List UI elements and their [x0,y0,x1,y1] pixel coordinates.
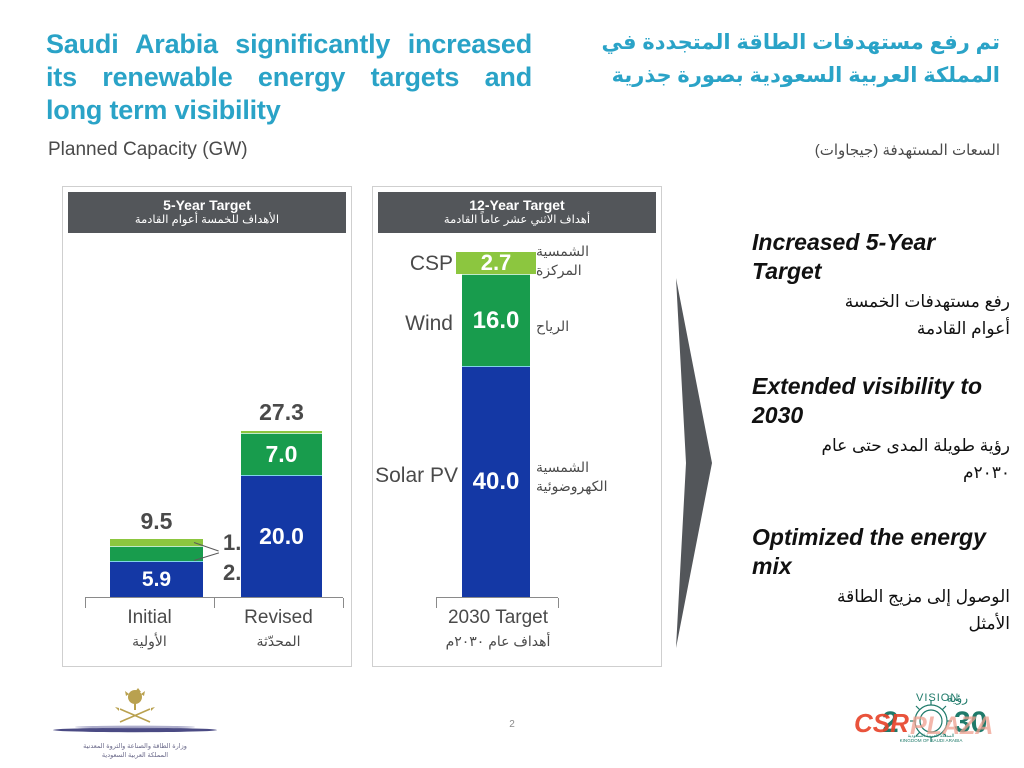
series-label-solar-ar: الشمسية الكهروضوئية [536,458,608,496]
panel-header-five-year: 5-Year Target الأهداف للخمسة أعوام القاد… [68,192,346,233]
panel-header-title-en-12: 12-Year Target [469,197,564,213]
callout-2-en: Optimized the energy mix [752,523,1010,581]
bar-2030-target: 40.0 16.0 [462,259,530,597]
segment-2030-csp: 2.7 [456,252,536,274]
total-label-revised: 27.3 [241,399,322,426]
category-label-revised: Revised المحدّثة [214,606,343,652]
series-label-wind-ar: الرياح [536,317,569,336]
subtitle-arabic: السعات المستهدفة (جيجاوات) [815,141,1000,159]
segment-value-revised-wind: 7.0 [266,441,298,468]
segment-value-2030-wind: 16.0 [473,307,520,335]
segment-value-2030-csp: 2.7 [481,250,512,276]
series-label-wind-en: Wind [373,312,453,336]
callout-0-en: Increased 5-Year Target [752,228,1010,286]
bar-initial: 5.9 [110,539,203,597]
chart-panel-twelve-year: 12-Year Target أهداف الاثني عشر عاماً ال… [372,186,662,667]
segment-value-initial-solar-pv: 5.9 [142,568,171,592]
segment-initial-wind [110,546,203,561]
title-line-3: long term visibility [46,94,532,127]
callout-optimized-mix: Optimized the energy mix الوصول إلى مزيج… [752,523,1010,637]
segment-2030-wind: 16.0 [462,274,530,366]
page-title-arabic: تم رفع مستهدفات الطاقة المتجددة في الممل… [530,26,1000,92]
plot-area-twelve-year: 58.7 40.0 16.0 2.7 CSP Wind [373,235,661,666]
svg-text:رؤية: رؤية [947,691,969,705]
segment-value-2030-solar-pv: 40.0 [473,468,520,496]
panel-header-title-en: 5-Year Target [163,197,251,213]
total-label-initial: 9.5 [110,508,203,535]
panel-header-title-ar: الأهداف للخمسة أعوام القادمة [135,213,279,228]
callout-0-ar: رفع مستهدفات الخمسة أعوام القادمة [752,288,1010,342]
callout-1-ar: رؤية طويلة المدى حتى عام ٢٠٣٠م [752,432,1010,486]
page-title-english: Saudi Arabia significantly increased its… [46,28,532,127]
panel-header-twelve-year: 12-Year Target أهداف الاثني عشر عاماً ال… [378,192,656,233]
title-line-1: Saudi Arabia significantly increased [46,28,532,61]
category-label-2030: 2030 Target أهداف عام ٢٠٣٠م [398,606,598,652]
title-line-2: its renewable energy targets and [46,61,532,94]
plot-area-five-year: 5.9 9.5 1.2 2.4 20.0 [63,235,351,666]
svg-text:30: 30 [954,706,987,739]
slide: Saudi Arabia significantly increased its… [0,0,1024,768]
panel-header-title-ar-12: أهداف الاثني عشر عاماً القادمة [444,213,590,228]
callout-1-en: Extended visibility to 2030 [752,372,1010,430]
subtitle-english: Planned Capacity (GW) [48,139,248,161]
callout-extended-visibility: Extended visibility to 2030 رؤية طويلة ا… [752,372,1010,486]
segment-initial-csp [110,539,203,546]
category-label-initial: Initial الأولية [85,606,214,652]
series-label-csp-en: CSP [373,252,453,276]
ministry-logo-caption: وزارة الطاقة والصناعة والثروة المعدنية ا… [50,742,220,760]
segment-revised-csp [241,431,322,433]
chevron-right-arrow-icon [672,278,718,648]
svg-text:KINGDOM OF SAUDI ARABIA: KINGDOM OF SAUDI ARABIA [900,738,964,743]
x-axis-twelve-year [436,597,558,598]
series-label-csp-ar: الشمسية المركزة [536,242,589,280]
segment-initial-solar-pv: 5.9 [110,561,203,597]
bar-revised: 20.0 7.0 [241,431,322,597]
segment-2030-solar-pv: 40.0 [462,366,530,597]
vision-2030-logo: VISION رؤية 2 30 KINGDOM OF SAUDI ARABIA… [856,688,1006,746]
callout-2-ar: الوصول إلى مزيج الطاقة الأمثل [752,583,1010,637]
segment-revised-solar-pv: 20.0 [241,475,322,597]
svg-text:2: 2 [882,706,899,739]
series-label-solar-en: Solar PV [373,464,458,488]
axis-tick-right [343,598,344,608]
chart-panel-five-year: 5-Year Target الأهداف للخمسة أعوام القاد… [62,186,352,667]
callout-increased-target: Increased 5-Year Target رفع مستهدفات الخ… [752,228,1010,342]
segment-value-revised-solar-pv: 20.0 [259,523,304,550]
segment-revised-wind: 7.0 [241,433,322,475]
